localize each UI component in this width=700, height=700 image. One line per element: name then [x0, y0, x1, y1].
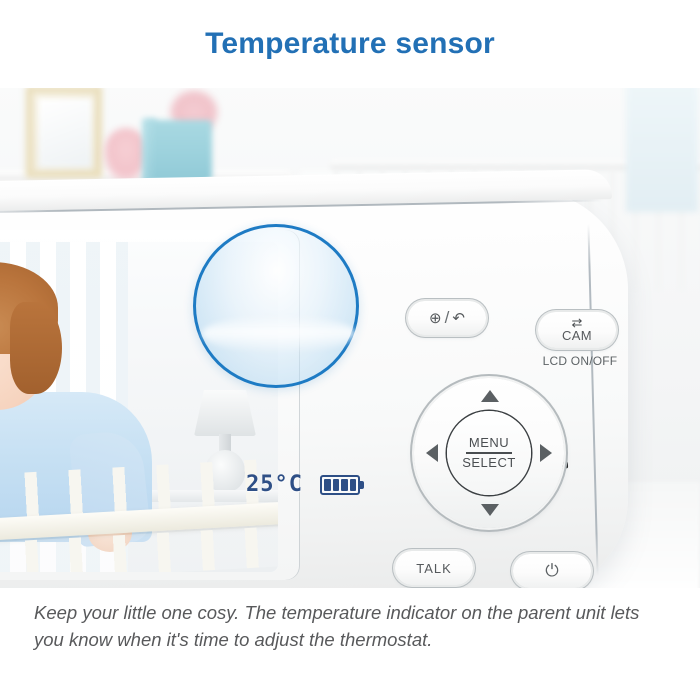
menu-select-button[interactable]: MENU SELECT — [447, 411, 531, 495]
dpad-left-button[interactable] — [426, 444, 438, 462]
title-bar: Temperature sensor — [0, 0, 700, 88]
product-feature-image: 25°C ⊕ / ↶ ⇄ CAM LCD ON/OFF TALK ⏻ — [0, 0, 700, 700]
left-right-arrow-icon: ⇄ — [572, 318, 583, 328]
background-teal-bucket — [150, 120, 212, 184]
baby-monitor-parent-unit: 25°C ⊕ / ↶ ⇄ CAM LCD ON/OFF TALK ⏻ — [0, 182, 640, 600]
battery-bar-3 — [341, 479, 348, 491]
select-label: SELECT — [462, 456, 516, 470]
zoom-in-icon: ⊕ — [429, 309, 442, 327]
zoom-back-icon-group: ⊕ / ↶ — [429, 308, 465, 328]
back-arrow-icon: ↶ — [452, 309, 465, 327]
zoom-back-button[interactable]: ⊕ / ↶ — [408, 301, 486, 335]
dpad-down-button[interactable] — [481, 504, 499, 516]
dpad-up-button[interactable] — [481, 390, 499, 402]
feature-caption: Keep your little one cosy. The temperatu… — [34, 600, 670, 654]
battery-bar-2 — [333, 479, 340, 491]
cam-button[interactable]: ⇄ CAM — [538, 312, 616, 348]
separator-slash: / — [445, 308, 450, 328]
power-icon: ⏻ — [545, 561, 558, 581]
background-picture-frame-art — [38, 98, 92, 168]
screen-lamp-shade — [194, 390, 256, 436]
lcd-screen[interactable] — [0, 242, 278, 572]
screen-baby-hair-side — [10, 302, 62, 394]
power-button[interactable]: ⏻ — [513, 554, 591, 588]
dpad-right-button[interactable] — [540, 444, 552, 462]
dpad-navigation[interactable]: MENU SELECT — [414, 378, 564, 528]
page-title: Temperature sensor — [205, 27, 495, 61]
menu-select-divider — [466, 452, 512, 454]
talk-button[interactable]: TALK — [395, 551, 473, 585]
temperature-readout: 25°C — [246, 472, 303, 497]
battery-bar-1 — [324, 479, 331, 491]
battery-full-icon — [320, 475, 360, 495]
battery-bar-4 — [350, 479, 357, 491]
cam-button-label: CAM — [562, 328, 592, 343]
lcd-on-off-label: LCD ON/OFF — [534, 354, 626, 368]
menu-label: MENU — [469, 436, 509, 450]
talk-button-label: TALK — [416, 561, 452, 576]
